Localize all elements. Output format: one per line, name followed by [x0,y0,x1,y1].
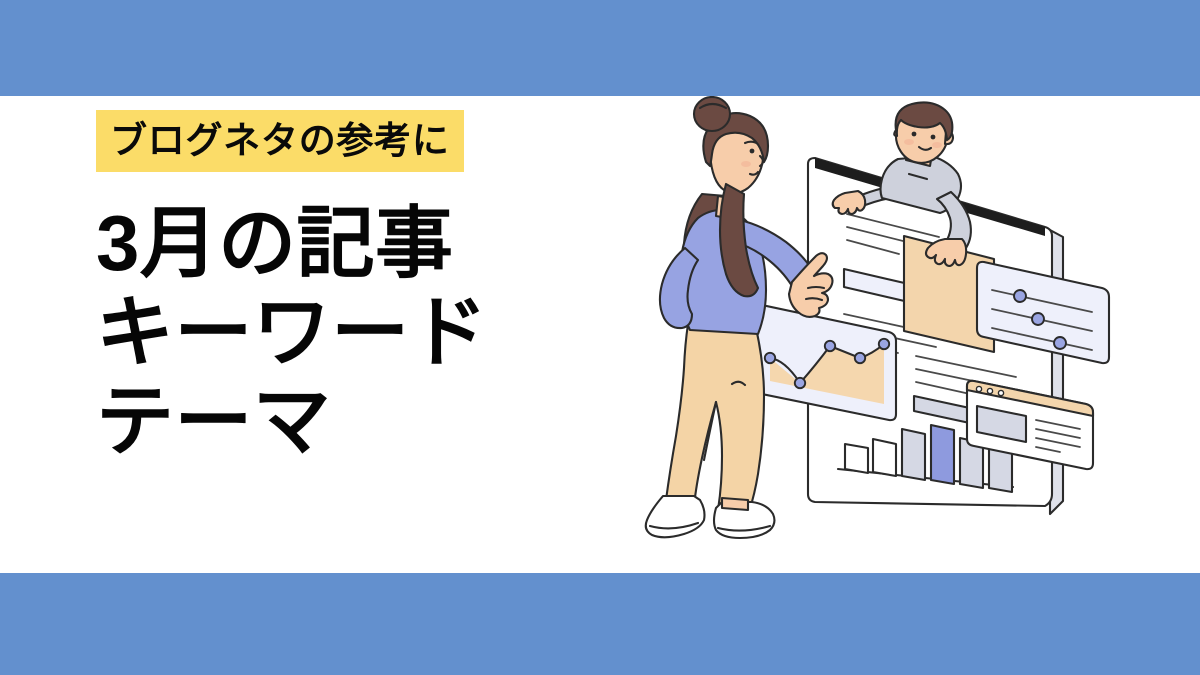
woman-ankle [722,498,748,510]
woman-shoe-back [646,496,705,537]
woman-hair-bun [694,97,730,131]
browser-dot-3 [998,390,1003,395]
poster-canvas: ブログネタの参考に 3月の記事 キーワード テーマ .o { fill:none… [0,0,1200,675]
woman-eye [750,149,755,154]
woman-trousers [666,324,764,514]
headline-line-2: キーワード [96,288,656,377]
headline-line-3: テーマ [96,377,656,466]
headline-line-1: 3月の記事 [96,199,656,288]
woman-hand-crease-1 [808,287,824,288]
chart-point-4 [855,353,865,363]
man-eye-right [931,135,936,140]
chart-point-2 [795,378,805,388]
man-blush-right [932,142,942,148]
page-title: 3月の記事 キーワード テーマ [96,199,656,466]
browser-dot-2 [987,388,992,393]
man-blush-left [904,139,914,145]
illustration-svg: .o { fill:none; stroke:#2b2b2b; stroke-w… [640,96,1140,576]
bar-4-highlighted [931,425,954,484]
woman-blush [741,161,751,167]
bar-2 [873,439,896,476]
browser-dot-1 [976,386,981,391]
slider-knob-1[interactable] [1014,290,1026,302]
two-people-dashboard-illustration: .o { fill:none; stroke:#2b2b2b; stroke-w… [640,96,1140,576]
bottom-band [0,573,1200,675]
slider-knob-3[interactable] [1054,337,1066,349]
top-band [0,0,1200,96]
man-eye-left [912,132,917,137]
eyebrow-row: ブログネタの参考に [96,110,656,172]
headline-block: ブログネタの参考に 3月の記事 キーワード テーマ [96,110,656,466]
chart-point-5 [879,339,889,349]
bar-3 [902,429,925,480]
bar-1 [845,444,868,473]
chart-point-1 [765,353,775,363]
slider-knob-2[interactable] [1032,313,1044,325]
chart-point-3 [825,341,835,351]
eyebrow-badge: ブログネタの参考に [96,110,464,172]
